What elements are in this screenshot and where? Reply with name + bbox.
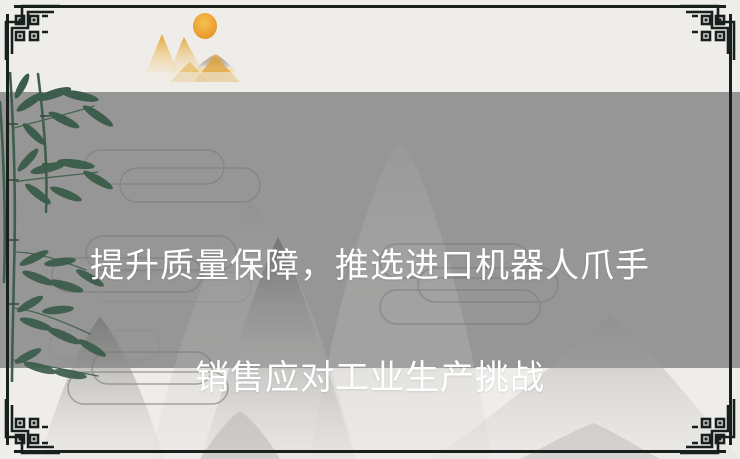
corner-fret-ornament-top-left <box>2 2 64 64</box>
poster-canvas: 提升质量保障，推选进口机器人爪手 销售应对工业生产挑战 <box>0 0 740 459</box>
frame-line-top <box>14 5 726 8</box>
frame-line-left <box>6 14 9 445</box>
corner-fret-ornament-top-right <box>676 2 738 64</box>
poster-headline: 提升质量保障，推选进口机器人爪手 销售应对工业生产挑战 <box>40 182 700 459</box>
headline-line-2: 销售应对工业生产挑战 <box>40 350 700 406</box>
frame-line-right <box>729 14 732 445</box>
headline-line-1: 提升质量保障，推选进口机器人爪手 <box>40 238 700 294</box>
